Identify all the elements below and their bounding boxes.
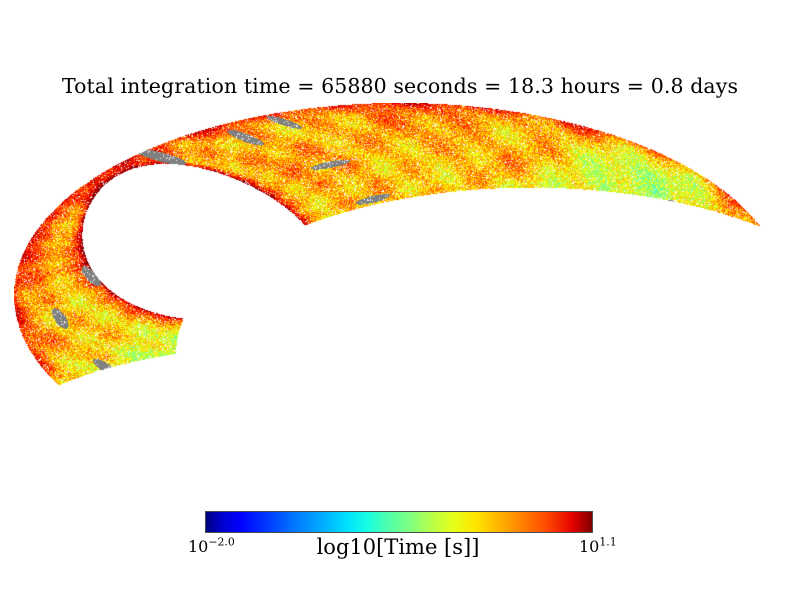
colorbar: 10−2.0 log10[Time [s]] 101.1 bbox=[205, 511, 595, 535]
colorbar-max-label: 101.1 bbox=[579, 537, 617, 556]
page-title: Total integration time = 65880 seconds =… bbox=[0, 74, 800, 98]
sky-map bbox=[14, 103, 786, 488]
colorbar-axis-label: log10[Time [s]] bbox=[205, 535, 591, 559]
mollweide-projection-canvas bbox=[14, 103, 786, 488]
colorbar-gradient bbox=[205, 511, 593, 533]
figure-canvas: Total integration time = 65880 seconds =… bbox=[0, 0, 800, 600]
